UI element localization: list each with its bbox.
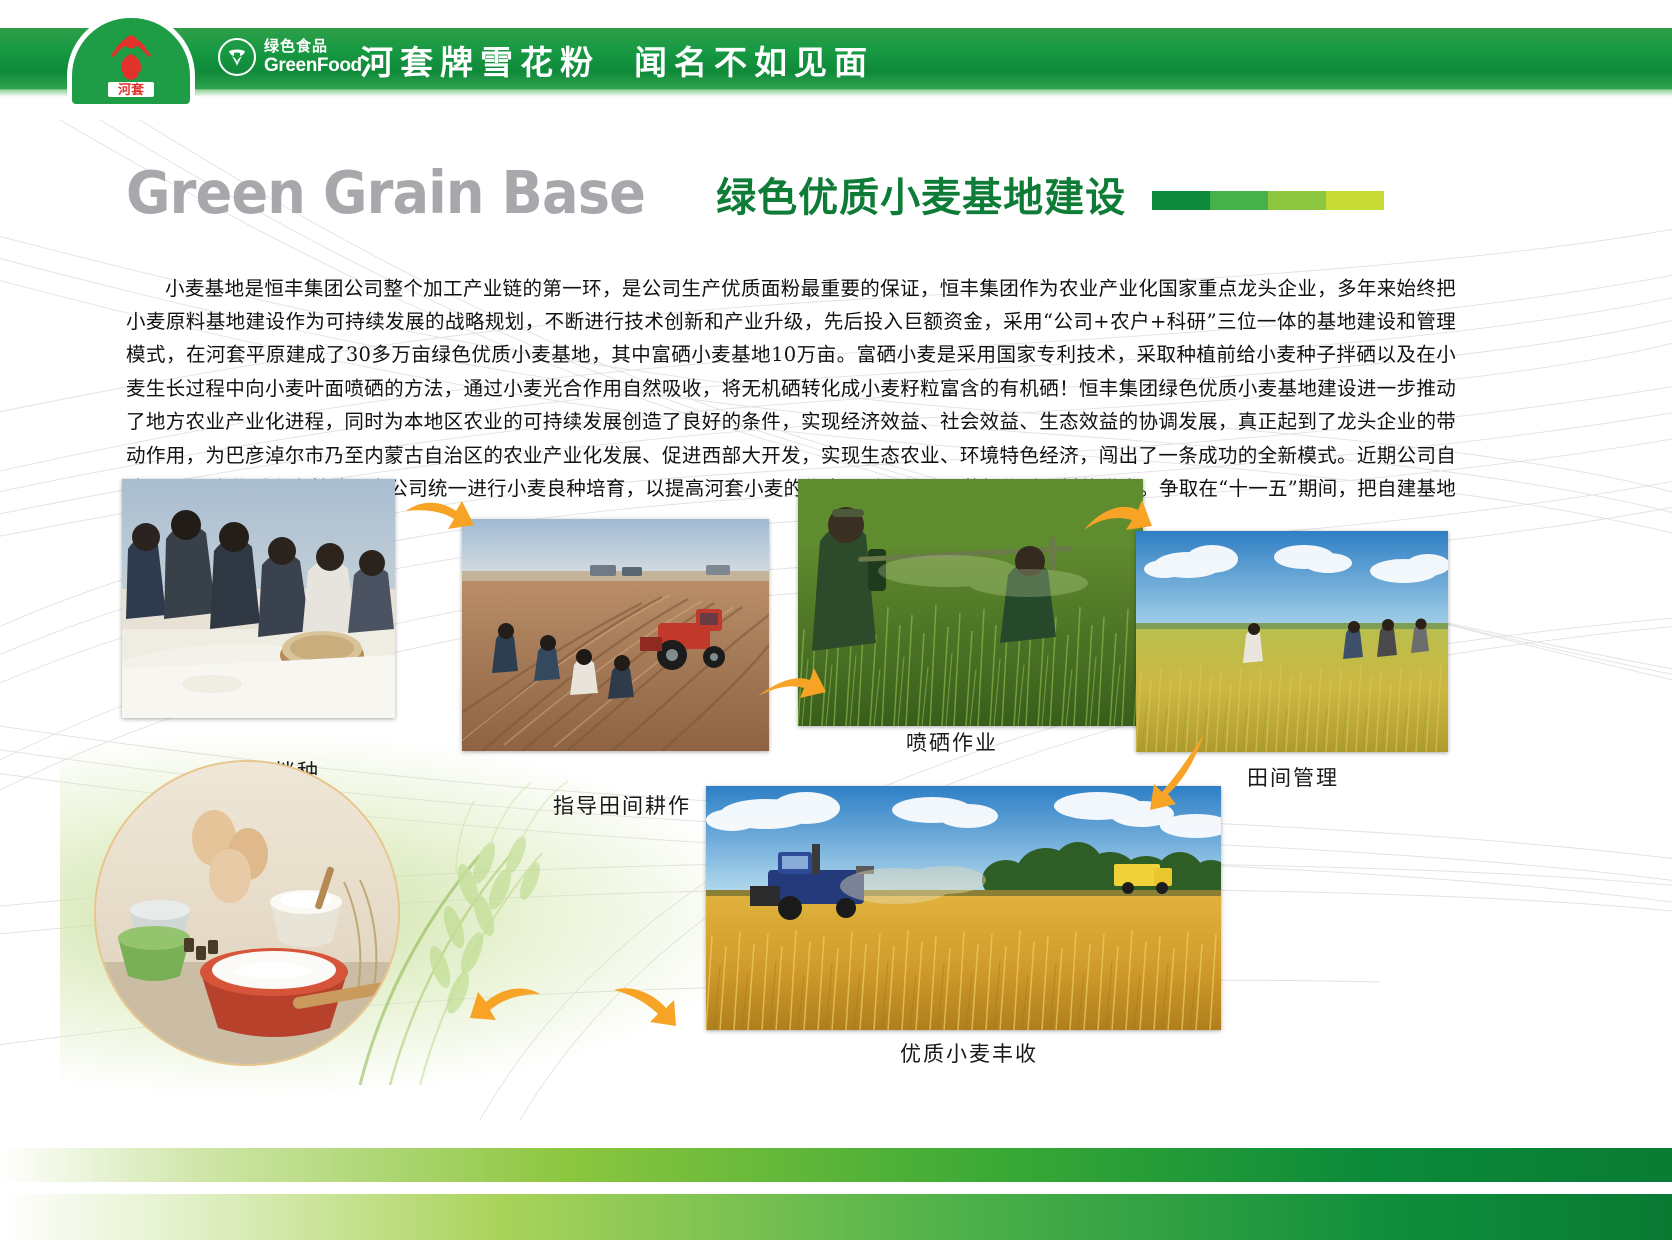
greenfood-icon bbox=[218, 38, 256, 76]
greenfood-mark: 绿色食品 GreenFood bbox=[218, 38, 362, 76]
page-headline: Green Grain Base 绿色优质小麦基地建设 bbox=[126, 163, 1384, 222]
flow-arrow-icon-1 bbox=[400, 495, 478, 554]
photo4-caption: 田间管理 bbox=[1247, 762, 1339, 792]
photo-field-tillage-guidance bbox=[462, 519, 769, 751]
photo-field-management bbox=[1136, 531, 1448, 752]
photo-wheat-harvest bbox=[706, 786, 1221, 1030]
photo2-caption: 指导田间耕作 bbox=[553, 790, 691, 820]
photo3-caption: 喷硒作业 bbox=[906, 727, 998, 757]
slogan-right: 闻名不如见面 bbox=[634, 43, 874, 82]
greenfood-label-en: GreenFood bbox=[264, 56, 362, 75]
flow-arrow-icon-5 bbox=[468, 980, 546, 1039]
photo-flour-products bbox=[94, 760, 400, 1066]
greenfood-label-cn: 绿色食品 bbox=[264, 39, 362, 54]
flow-arrow-icon-4 bbox=[1146, 728, 1224, 823]
photo5-caption: 优质小麦丰收 bbox=[900, 1038, 1038, 1068]
flow-arrow-icon-3 bbox=[1078, 498, 1156, 557]
hetao-logo: 河套 bbox=[72, 18, 190, 104]
flow-arrow-icon-6 bbox=[604, 978, 682, 1037]
footer-divider bbox=[0, 1142, 1672, 1148]
slogan-left: 河套牌雪花粉 bbox=[360, 43, 600, 82]
footer-bars bbox=[0, 1110, 1672, 1240]
headline-color-bars bbox=[1152, 191, 1384, 222]
footer-bar-upper bbox=[0, 1148, 1672, 1182]
logo-text: 河套 bbox=[118, 82, 145, 98]
banner-slogan: 河套牌雪花粉闻名不如见面 bbox=[360, 36, 874, 84]
flow-arrow-icon-2 bbox=[752, 662, 830, 721]
brochure-page: 河套 绿色食品 GreenFood 河套牌雪花粉闻名不如见面 Green Gra… bbox=[0, 0, 1672, 1240]
footer-bar-lower bbox=[0, 1194, 1672, 1240]
photo-guidance-seed-mixing bbox=[122, 479, 395, 718]
headline-english: Green Grain Base bbox=[126, 163, 645, 222]
headline-chinese: 绿色优质小麦基地建设 bbox=[716, 178, 1126, 222]
